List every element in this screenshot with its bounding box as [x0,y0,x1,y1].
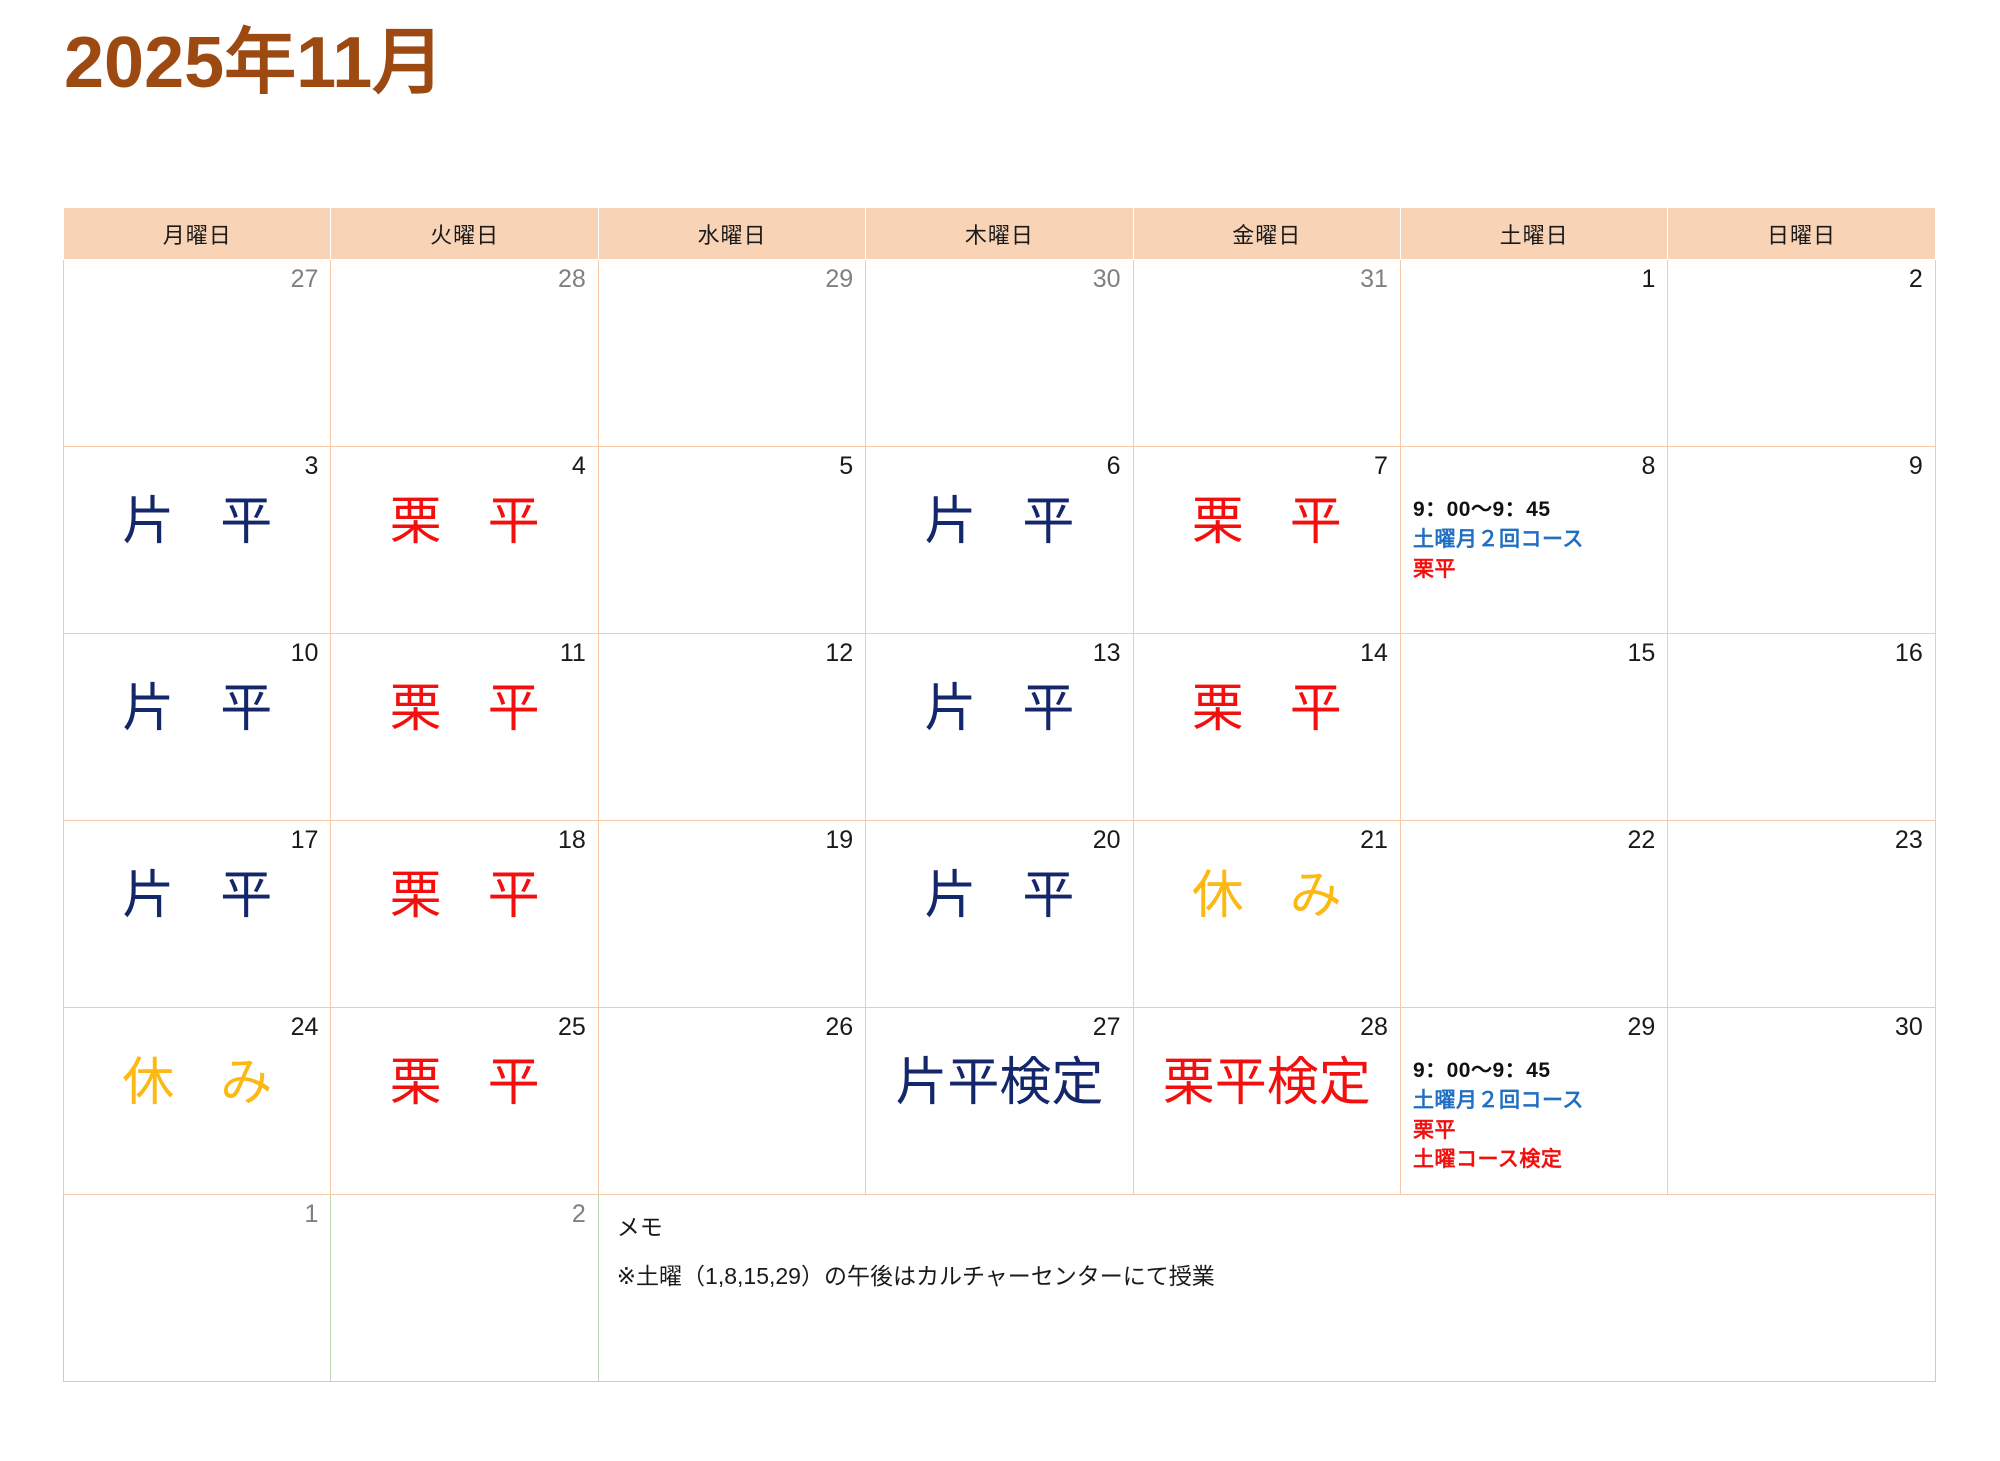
day-number: 22 [1413,827,1655,857]
day-number: 11 [343,640,585,670]
calendar-day-cell[interactable]: 28栗平検定 [1133,1008,1400,1195]
day-events: 片平 [878,493,1120,553]
event-label[interactable]: 片平 [76,867,318,927]
memo-cell[interactable]: メモ※土曜（1,8,15,29）の午後はカルチャーセンターにて授業 [598,1195,1935,1382]
event-label[interactable]: 休み [76,1054,318,1114]
weekday-header-wednesday: 水曜日 [598,208,865,260]
day-events: 休み [1146,867,1388,927]
day-number: 12 [611,640,853,670]
day-events: 栗平 [1146,493,1388,553]
day-events: 片平 [878,680,1120,740]
day-number: 13 [878,640,1120,670]
day-number: 7 [1146,453,1388,483]
calendar-day-cell[interactable]: 3片平 [64,447,331,634]
day-number: 20 [878,827,1120,857]
day-number: 23 [1680,827,1922,857]
calendar-day-cell[interactable]: 7栗平 [1133,447,1400,634]
weekday-header-tuesday: 火曜日 [331,208,598,260]
day-number: 25 [343,1014,585,1044]
calendar-day-cell[interactable]: 31 [1133,260,1400,447]
memo-note: ※土曜（1,8,15,29）の午後はカルチャーセンターにて授業 [617,1258,1917,1295]
day-events: 栗平 [343,493,585,553]
calendar-day-cell[interactable]: 26 [598,1008,865,1195]
event-label[interactable]: 片平 [878,867,1120,927]
day-number: 26 [611,1014,853,1044]
calendar-week-row: 272829303112 [64,260,1936,447]
calendar-day-cell[interactable]: 22 [1400,821,1667,1008]
day-number: 27 [878,1014,1120,1044]
day-number: 27 [76,266,318,296]
day-number: 2 [1680,266,1922,296]
day-events: 栗平 [343,680,585,740]
weekday-header-sunday: 日曜日 [1668,208,1935,260]
calendar-day-cell[interactable]: 30 [1668,1008,1935,1195]
calendar-day-cell[interactable]: 2 [331,1195,598,1382]
day-number: 15 [1413,640,1655,670]
event-label[interactable]: 栗平 [343,680,585,740]
calendar-day-cell[interactable]: 20片平 [866,821,1133,1008]
day-number: 14 [1146,640,1388,670]
day-events: 栗平 [1146,680,1388,740]
calendar-day-cell[interactable]: 14栗平 [1133,634,1400,821]
calendar-day-cell[interactable]: 6片平 [866,447,1133,634]
event-label[interactable]: 栗平 [1146,680,1388,740]
day-events: 9：00〜9：45土曜月２回コース栗平土曜コース検定 [1413,1056,1655,1175]
day-number: 31 [1146,266,1388,296]
calendar-day-cell[interactable]: 21休み [1133,821,1400,1008]
event-line[interactable]: 土曜月２回コース [1413,525,1655,555]
day-number: 29 [611,266,853,296]
calendar-day-cell[interactable]: 19 [598,821,865,1008]
day-events: 栗平検定 [1146,1054,1388,1114]
calendar-day-cell[interactable]: 23 [1668,821,1935,1008]
day-number: 2 [343,1201,585,1231]
weekday-header-thursday: 木曜日 [866,208,1133,260]
day-number: 19 [611,827,853,857]
calendar-body: 2728293031123片平4栗平56片平7栗平89：00〜9：45土曜月２回… [64,260,1936,1382]
day-events: 片平 [878,867,1120,927]
calendar-day-cell[interactable]: 10片平 [64,634,331,821]
event-line[interactable]: 土曜月２回コース [1413,1086,1655,1116]
event-label[interactable]: 栗平 [343,867,585,927]
calendar-day-cell[interactable]: 17片平 [64,821,331,1008]
day-number: 6 [878,453,1120,483]
event-label[interactable]: 片平 [878,493,1120,553]
day-number: 10 [76,640,318,670]
day-number: 3 [76,453,318,483]
weekday-header-monday: 月曜日 [64,208,331,260]
calendar-day-cell[interactable]: 24休み [64,1008,331,1195]
day-number: 1 [76,1201,318,1231]
day-number: 17 [76,827,318,857]
calendar-day-cell[interactable]: 27片平検定 [866,1008,1133,1195]
day-events: 栗平 [343,1054,585,1114]
day-events: 片平 [76,680,318,740]
event-line[interactable]: 土曜コース検定 [1413,1145,1655,1175]
event-label[interactable]: 栗平検定 [1146,1054,1388,1114]
event-label[interactable]: 栗平 [343,1054,585,1114]
day-number: 28 [343,266,585,296]
event-label[interactable]: 栗平 [343,493,585,553]
day-number: 9 [1680,453,1922,483]
calendar-week-row: 17片平18栗平1920片平21休み2223 [64,821,1936,1008]
event-line[interactable]: 9：00〜9：45 [1413,1056,1655,1086]
page-title: 2025年11月 [64,26,444,102]
calendar-day-cell[interactable]: 30 [866,260,1133,447]
event-label[interactable]: 片平 [878,680,1120,740]
day-number: 29 [1413,1014,1655,1044]
day-number: 1 [1413,266,1655,296]
day-number: 28 [1146,1014,1388,1044]
calendar-day-cell[interactable]: 25栗平 [331,1008,598,1195]
calendar-day-cell[interactable]: 29 [598,260,865,447]
day-events: 片平検定 [878,1054,1120,1114]
calendar-day-cell[interactable]: 9 [1668,447,1935,634]
weekday-header-row: 月曜日 火曜日 水曜日 木曜日 金曜日 土曜日 日曜日 [64,208,1936,260]
day-number: 24 [76,1014,318,1044]
day-number: 18 [343,827,585,857]
calendar-day-cell[interactable]: 16 [1668,634,1935,821]
event-line[interactable]: 栗平 [1413,555,1655,585]
day-number: 21 [1146,827,1388,857]
event-label[interactable]: 片平 [76,493,318,553]
day-number: 8 [1413,453,1655,483]
event-label[interactable]: 休み [1146,867,1388,927]
day-events: 休み [76,1054,318,1114]
calendar-day-cell[interactable]: 28 [331,260,598,447]
event-line[interactable]: 栗平 [1413,1116,1655,1146]
calendar-page: 2025年11月 月曜日 火曜日 水曜日 木曜日 金曜日 土曜日 日曜日 272… [0,0,2000,1461]
day-events: 栗平 [343,867,585,927]
calendar-day-cell[interactable]: 5 [598,447,865,634]
calendar-day-cell[interactable]: 4栗平 [331,447,598,634]
calendar-day-cell[interactable]: 1 [1400,260,1667,447]
calendar-day-cell[interactable]: 1 [64,1195,331,1382]
calendar-week-row: 10片平11栗平1213片平14栗平1516 [64,634,1936,821]
event-line[interactable]: 9：00〜9：45 [1413,495,1655,525]
day-number: 5 [611,453,853,483]
calendar-day-cell[interactable]: 13片平 [866,634,1133,821]
calendar-day-cell[interactable]: 18栗平 [331,821,598,1008]
calendar-day-cell[interactable]: 27 [64,260,331,447]
day-events: 9：00〜9：45土曜月２回コース栗平 [1413,495,1655,584]
event-label[interactable]: 片平 [76,680,318,740]
day-events: 片平 [76,867,318,927]
day-number: 16 [1680,640,1922,670]
day-events: 片平 [76,493,318,553]
calendar-week-row: 24休み25栗平2627片平検定28栗平検定299：00〜9：45土曜月２回コー… [64,1008,1936,1195]
calendar-day-cell[interactable]: 12 [598,634,865,821]
weekday-header-saturday: 土曜日 [1400,208,1667,260]
day-number: 4 [343,453,585,483]
event-label[interactable]: 栗平 [1146,493,1388,553]
event-label[interactable]: 片平検定 [878,1054,1120,1114]
day-number: 30 [1680,1014,1922,1044]
calendar-day-cell[interactable]: 2 [1668,260,1935,447]
calendar-week-row: 3片平4栗平56片平7栗平89：00〜9：45土曜月２回コース栗平9 [64,447,1936,634]
calendar-day-cell[interactable]: 299：00〜9：45土曜月２回コース栗平土曜コース検定 [1400,1008,1667,1195]
calendar-table: 月曜日 火曜日 水曜日 木曜日 金曜日 土曜日 日曜日 272829303112… [63,207,1936,1382]
calendar-day-cell[interactable]: 15 [1400,634,1667,821]
calendar-container: 月曜日 火曜日 水曜日 木曜日 金曜日 土曜日 日曜日 272829303112… [63,207,1935,1382]
memo-title: メモ [617,1209,1917,1246]
day-number: 30 [878,266,1120,296]
calendar-day-cell[interactable]: 89：00〜9：45土曜月２回コース栗平 [1400,447,1667,634]
calendar-day-cell[interactable]: 11栗平 [331,634,598,821]
weekday-header-friday: 金曜日 [1133,208,1400,260]
calendar-last-row: 12メモ※土曜（1,8,15,29）の午後はカルチャーセンターにて授業 [64,1195,1936,1382]
